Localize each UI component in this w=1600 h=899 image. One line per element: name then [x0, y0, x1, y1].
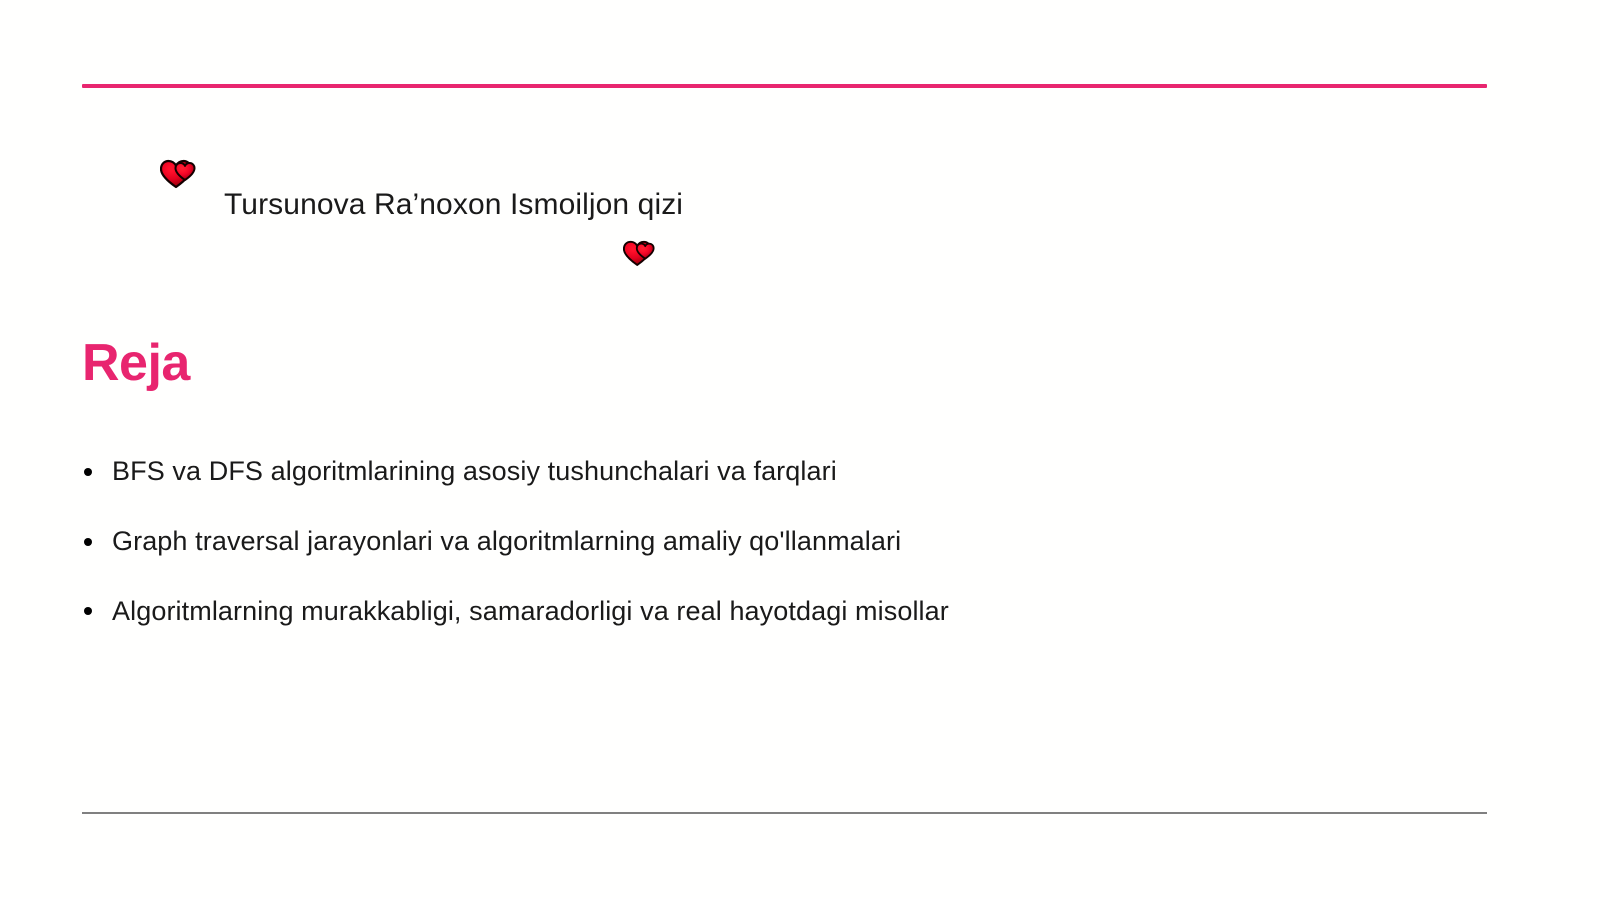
two-hearts-icon	[160, 157, 196, 189]
page-title: Reja	[82, 335, 190, 392]
list-item: Algoritmlarning murakkabligi, samaradorl…	[76, 595, 1476, 629]
bottom-divider-rule	[82, 812, 1487, 814]
top-accent-rule	[82, 84, 1487, 88]
list-item-label: Graph traversal jarayonlari va algoritml…	[112, 526, 901, 556]
presenter-name: Tursunova Ra’noxon Ismoiljon qizi	[224, 188, 683, 222]
two-hearts-icon	[623, 238, 655, 267]
agenda-list: BFS va DFS algoritmlarining asosiy tushu…	[76, 455, 1476, 628]
presentation-slide: Tursunova Ra’noxon Ismoiljon qizi Reja B…	[0, 0, 1600, 899]
list-item-label: Algoritmlarning murakkabligi, samaradorl…	[112, 596, 949, 626]
bullet-point-icon	[84, 607, 92, 615]
list-item-label: BFS va DFS algoritmlarining asosiy tushu…	[112, 456, 837, 486]
list-item: BFS va DFS algoritmlarining asosiy tushu…	[76, 455, 1476, 489]
bullet-point-icon	[84, 468, 92, 476]
bullet-point-icon	[84, 538, 92, 546]
list-item: Graph traversal jarayonlari va algoritml…	[76, 525, 1476, 559]
